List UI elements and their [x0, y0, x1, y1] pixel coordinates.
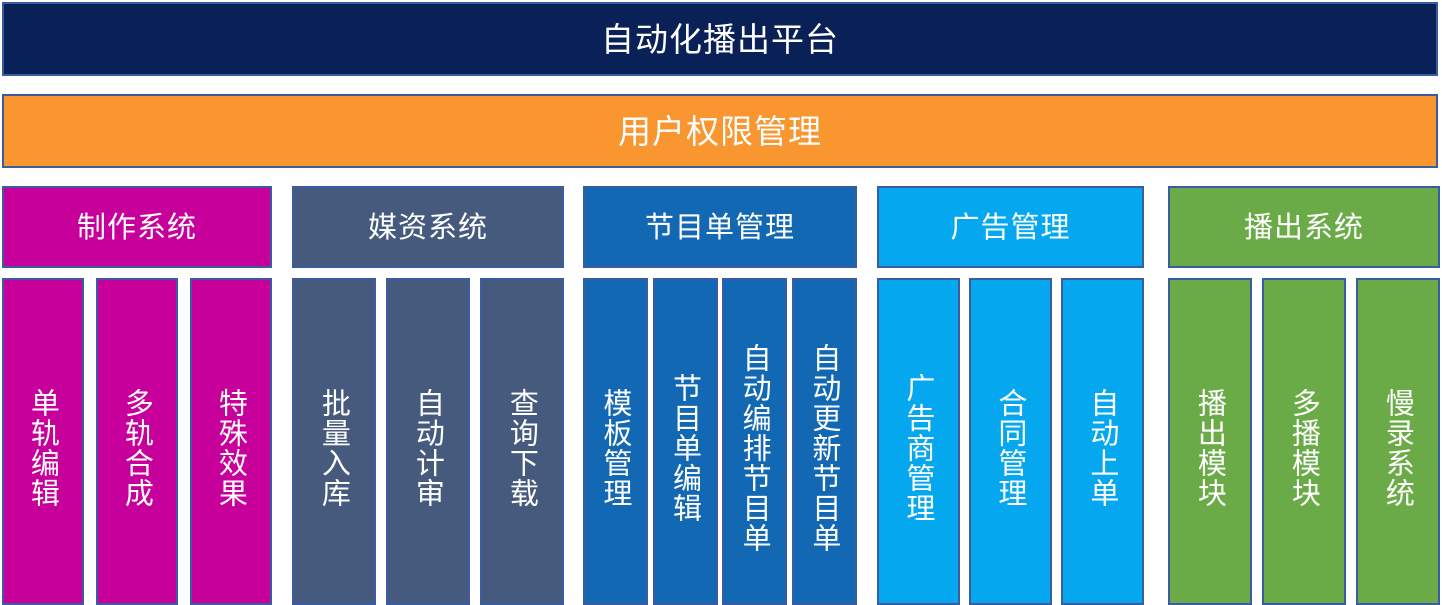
group-header-production[interactable]: 制作系统 [2, 186, 272, 268]
group-header-ads[interactable]: 广告管理 [877, 186, 1144, 268]
group-schedule: 节目单管理 模板管理 节目单编辑 自动编排节目单 自动更新节目单 [583, 186, 857, 605]
module-card[interactable]: 批量入库 [292, 278, 376, 605]
module-label: 特殊效果 [216, 388, 247, 508]
group-header-label-ads: 广告管理 [950, 213, 1070, 242]
group-production: 制作系统 单轨编辑 多轨合成 特殊效果 [2, 186, 272, 605]
group-columns-production: 单轨编辑 多轨合成 特殊效果 [2, 278, 272, 605]
group-header-label-production: 制作系统 [77, 213, 197, 242]
group-broadcast: 播出系统 播出模块 多播模块 慢录系统 [1168, 186, 1440, 605]
module-label: 单轨编辑 [28, 388, 59, 508]
module-label: 查询下载 [507, 388, 538, 508]
group-header-schedule[interactable]: 节目单管理 [583, 186, 857, 268]
module-card[interactable]: 自动计审 [386, 278, 470, 605]
group-columns-broadcast: 播出模块 多播模块 慢录系统 [1168, 278, 1440, 605]
module-label: 自动计审 [413, 388, 444, 508]
module-card[interactable]: 模板管理 [583, 278, 648, 605]
module-label: 播出模块 [1195, 388, 1226, 508]
group-columns-schedule: 模板管理 节目单编辑 自动编排节目单 自动更新节目单 [583, 278, 857, 605]
module-card[interactable]: 广告商管理 [877, 278, 960, 605]
module-label: 多播模块 [1289, 388, 1320, 508]
module-label: 批量入库 [319, 388, 350, 508]
module-card[interactable]: 播出模块 [1168, 278, 1252, 605]
group-header-label-media: 媒资系统 [368, 213, 488, 242]
module-card[interactable]: 自动更新节目单 [792, 278, 857, 605]
module-card[interactable]: 单轨编辑 [2, 278, 84, 605]
module-card[interactable]: 多轨合成 [96, 278, 178, 605]
platform-title-label: 自动化播出平台 [601, 23, 839, 56]
user-permission-label: 用户权限管理 [618, 115, 822, 148]
module-label: 自动上单 [1087, 388, 1118, 508]
group-header-media[interactable]: 媒资系统 [292, 186, 564, 268]
group-header-label-schedule: 节目单管理 [645, 213, 795, 242]
user-permission-bar: 用户权限管理 [2, 94, 1438, 168]
module-label: 多轨合成 [122, 388, 153, 508]
module-label: 自动更新节目单 [809, 343, 840, 553]
group-header-label-broadcast: 播出系统 [1244, 213, 1364, 242]
group-columns-ads: 广告商管理 合同管理 自动上单 [877, 278, 1144, 605]
module-label: 自动编排节目单 [739, 343, 770, 553]
module-card[interactable]: 特殊效果 [190, 278, 272, 605]
module-card[interactable]: 慢录系统 [1356, 278, 1440, 605]
module-card[interactable]: 自动上单 [1061, 278, 1144, 605]
group-header-broadcast[interactable]: 播出系统 [1168, 186, 1440, 268]
module-label: 广告商管理 [903, 373, 934, 523]
module-label: 节目单编辑 [670, 373, 701, 523]
group-ads: 广告管理 广告商管理 合同管理 自动上单 [877, 186, 1144, 605]
module-label: 慢录系统 [1383, 388, 1414, 508]
group-columns-media: 批量入库 自动计审 查询下载 [292, 278, 564, 605]
module-label: 合同管理 [995, 388, 1026, 508]
module-card[interactable]: 多播模块 [1262, 278, 1346, 605]
module-card[interactable]: 自动编排节目单 [722, 278, 787, 605]
module-card[interactable]: 查询下载 [480, 278, 564, 605]
architecture-diagram: 自动化播出平台 用户权限管理 制作系统 单轨编辑 多轨合成 特殊效果 媒资系统 [0, 0, 1442, 605]
module-label: 模板管理 [600, 388, 631, 508]
module-card[interactable]: 节目单编辑 [653, 278, 718, 605]
module-card[interactable]: 合同管理 [969, 278, 1052, 605]
platform-title-bar: 自动化播出平台 [2, 2, 1438, 76]
group-media: 媒资系统 批量入库 自动计审 查询下载 [292, 186, 564, 605]
